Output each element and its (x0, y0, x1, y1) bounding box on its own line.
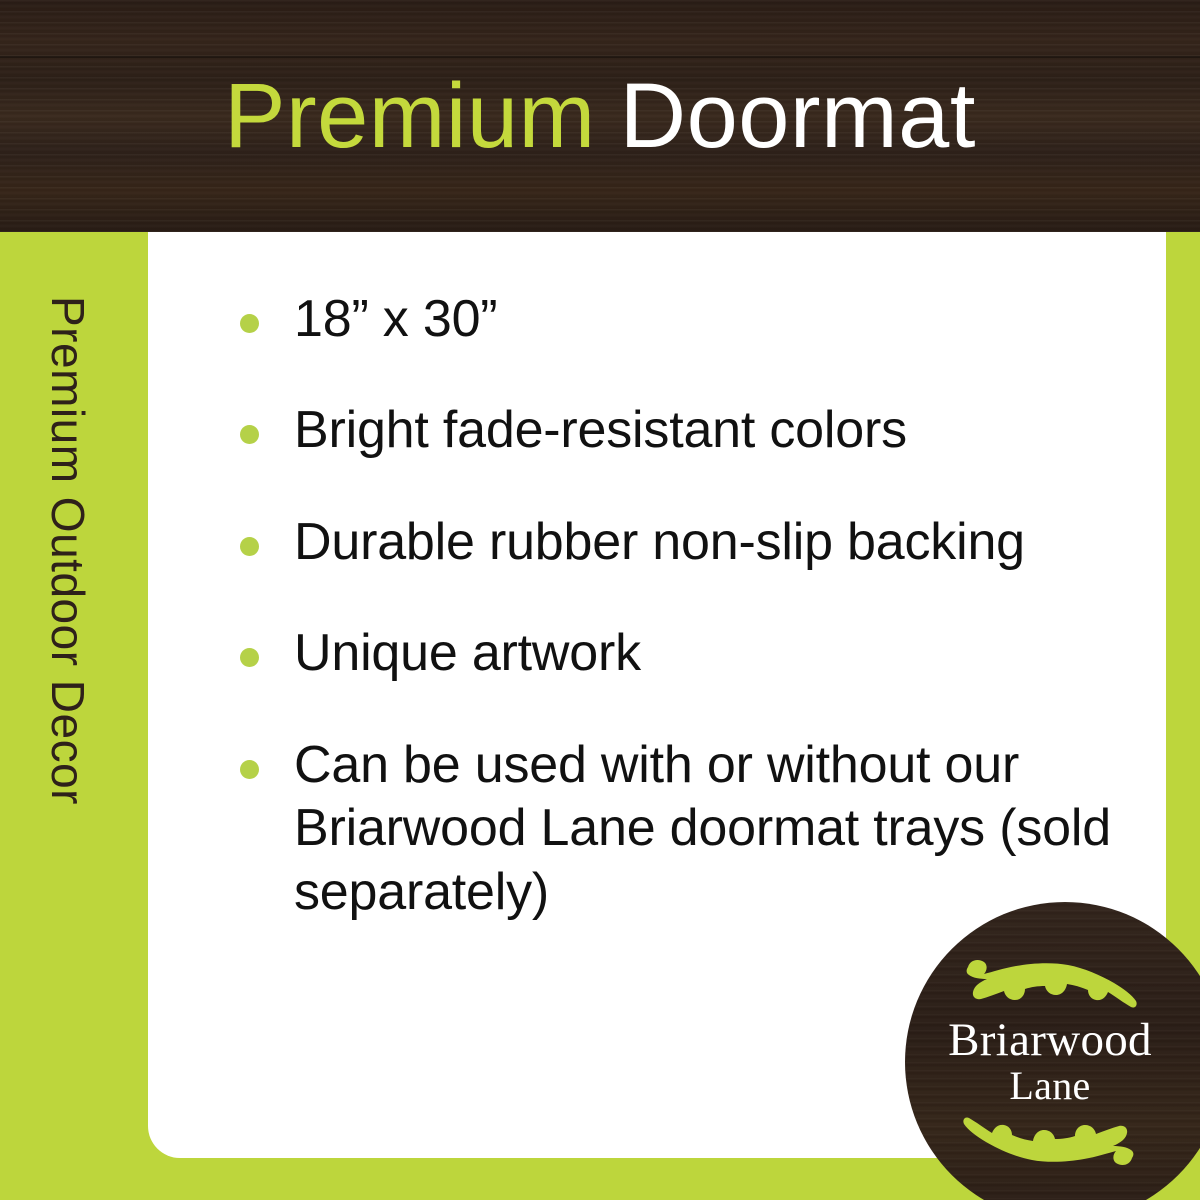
list-item: Can be used with or without our Briarwoo… (240, 734, 1120, 924)
list-item: Unique artwork (240, 622, 1120, 685)
list-item: 18” x 30” (240, 288, 1120, 351)
bullet-dot-icon (240, 648, 259, 667)
sidebar-vertical-label: Premium Outdoor Decor (45, 296, 91, 805)
header-wood-band: Premium Doormat (0, 0, 1200, 232)
list-item-text: Unique artwork (294, 624, 641, 682)
list-item-text: Durable rubber non-slip backing (294, 513, 1025, 571)
sidebar-rail: Premium Outdoor Decor (0, 232, 148, 1200)
list-item-text: Bright fade-resistant colors (294, 401, 907, 459)
page-title: Premium Doormat (0, 0, 1200, 232)
brand-sub: Lane (1009, 1064, 1090, 1108)
title-highlight: Premium (224, 70, 596, 162)
bullet-dot-icon (240, 760, 259, 779)
brand-logo-inner: Briarwood Lane (905, 902, 1200, 1200)
oak-leaf-icon (960, 1114, 1140, 1172)
brand-logo-badge: Briarwood Lane (905, 902, 1200, 1200)
list-item-text: Can be used with or without our Briarwoo… (294, 736, 1111, 921)
sidebar-label-wrap: Premium Outdoor Decor (0, 232, 148, 1200)
list-item-text: 18” x 30” (294, 290, 497, 348)
brand-name: Briarwood (948, 1017, 1152, 1064)
bullet-dot-icon (240, 314, 259, 333)
product-infographic: Premium Doormat Premium Outdoor Decor 18… (0, 0, 1200, 1200)
list-item: Durable rubber non-slip backing (240, 511, 1120, 574)
bullet-dot-icon (240, 537, 259, 556)
oak-leaf-icon (960, 953, 1140, 1011)
title-rest: Doormat (620, 70, 976, 162)
bullet-dot-icon (240, 425, 259, 444)
feature-list: 18” x 30” Bright fade-resistant colors D… (240, 288, 1120, 924)
list-item: Bright fade-resistant colors (240, 399, 1120, 462)
